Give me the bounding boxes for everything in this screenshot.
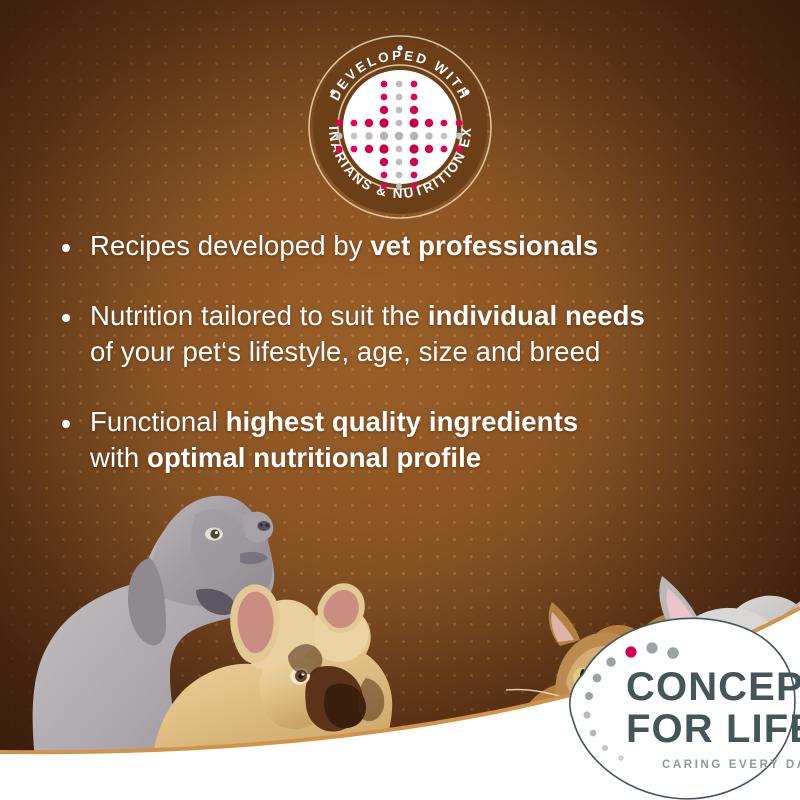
poster-canvas: DEVELOPED WITH VETERINARIANS & NUTRITION… bbox=[0, 0, 800, 800]
logo-line-1: CONCEPT bbox=[626, 665, 800, 709]
benefit-2-bold: individual needs bbox=[428, 300, 645, 331]
bullet-dot-icon bbox=[62, 420, 70, 428]
bullet-dot-icon bbox=[62, 244, 70, 252]
benefit-2-tail: of your pet‘s lifestyle, age, size and b… bbox=[90, 336, 600, 367]
logo-tagline: CARING EVERY DAY bbox=[662, 759, 800, 771]
badge-separator-dot-right bbox=[464, 89, 469, 94]
benefit-2-lead: Nutrition tailored to suit the bbox=[90, 300, 428, 331]
benefit-1-lead: Recipes developed by bbox=[90, 230, 370, 261]
list-item: Nutrition tailored to suit the individua… bbox=[62, 298, 742, 370]
benefit-text-1: Recipes developed by vet professionals bbox=[90, 228, 598, 264]
benefit-3-bold-2: optimal nutritional profile bbox=[147, 442, 481, 473]
logo-line-2: FOR LIFE bbox=[626, 707, 800, 751]
developed-with-badge: DEVELOPED WITH VETERINARIANS & NUTRITION… bbox=[307, 34, 493, 220]
list-item: Functional highest quality ingredients w… bbox=[62, 404, 742, 476]
benefit-3-tail: with bbox=[90, 442, 147, 473]
benefit-text-3: Functional highest quality ingredients w… bbox=[90, 404, 578, 476]
benefit-list: Recipes developed by vet professionals N… bbox=[62, 228, 742, 476]
brand-logo: CONCEPT FOR LIFE CARING EVERY DAY bbox=[553, 612, 800, 800]
benefit-text-2: Nutrition tailored to suit the individua… bbox=[90, 298, 645, 370]
benefit-1-bold: vet professionals bbox=[370, 230, 598, 261]
badge-separator-dot-left bbox=[330, 89, 335, 94]
list-item: Recipes developed by vet professionals bbox=[62, 228, 742, 264]
benefit-3-bold: highest quality ingredients bbox=[226, 406, 579, 437]
badge-separator-dot-top bbox=[397, 45, 402, 50]
bullet-dot-icon bbox=[62, 314, 70, 322]
benefit-3-lead: Functional bbox=[90, 406, 226, 437]
